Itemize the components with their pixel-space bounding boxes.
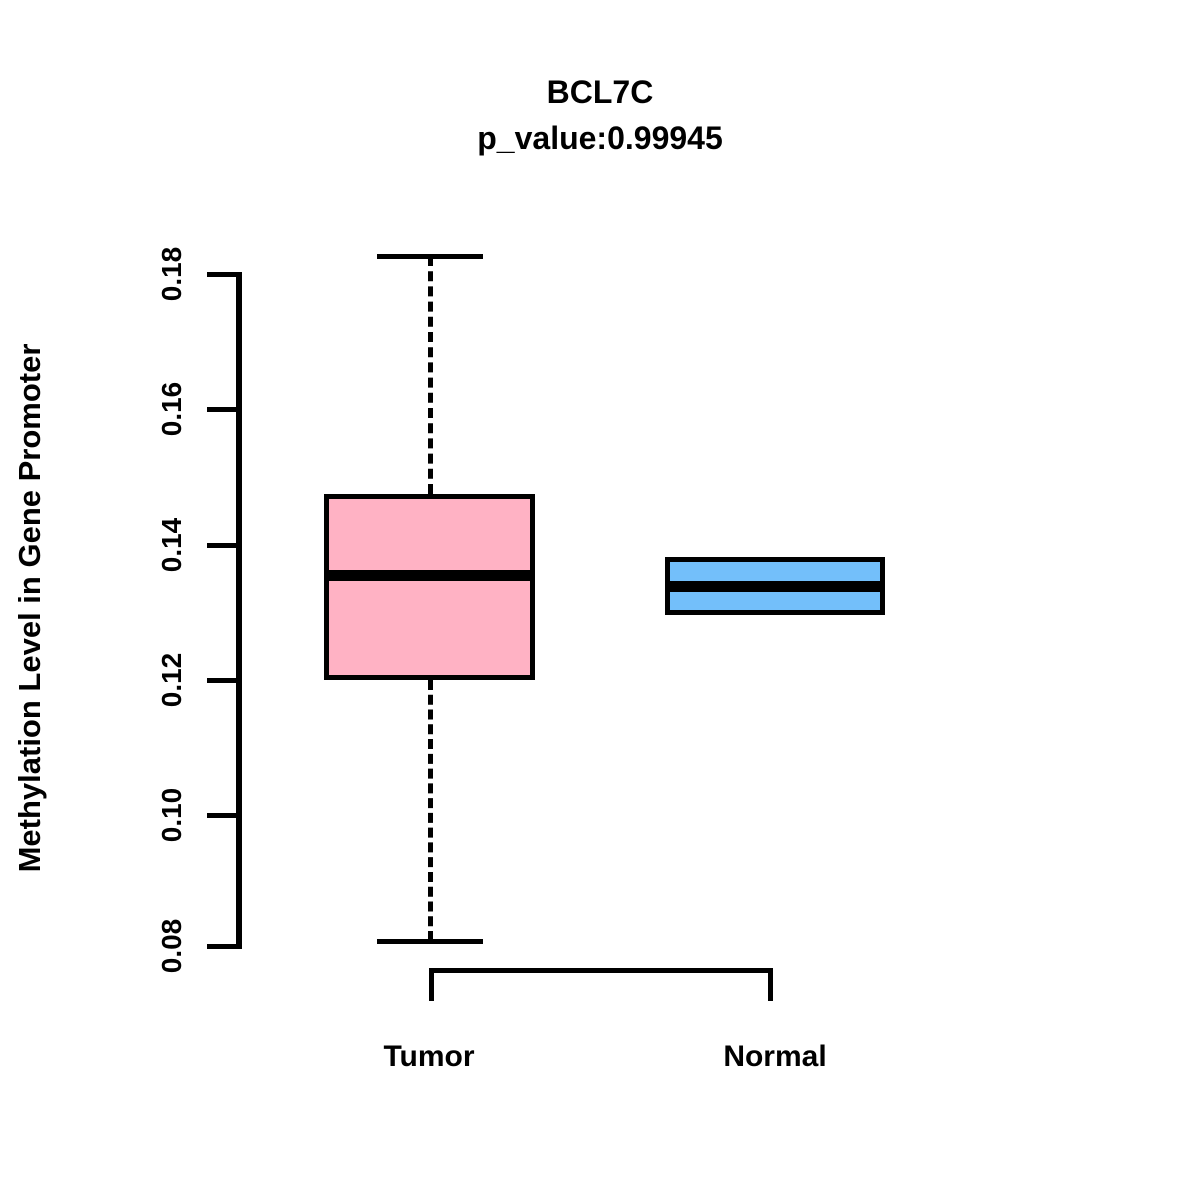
y-tick-label-008: 0.08 bbox=[156, 891, 188, 1001]
y-tick-label-014: 0.14 bbox=[156, 490, 188, 600]
y-tick-mark bbox=[207, 407, 237, 412]
y-tick-mark bbox=[207, 678, 237, 683]
tumor-median-line bbox=[324, 570, 535, 581]
tumor-lower-whisker bbox=[428, 680, 433, 942]
y-tick-mark bbox=[207, 543, 237, 548]
y-tick-label-010: 0.10 bbox=[156, 760, 188, 870]
tumor-lower-whisker-cap bbox=[377, 939, 483, 944]
x-axis-label-normal: Normal bbox=[655, 1040, 895, 1074]
x-tick-mark-tumor bbox=[429, 968, 434, 1001]
x-tick-mark-normal bbox=[768, 968, 773, 1001]
tumor-upper-whisker bbox=[428, 256, 433, 493]
y-tick-label-012: 0.12 bbox=[156, 625, 188, 735]
tumor-box bbox=[324, 494, 535, 680]
y-tick-mark bbox=[207, 813, 237, 818]
chart-subtitle-pvalue: p_value:0.99945 bbox=[0, 120, 1200, 157]
normal-median-line bbox=[665, 581, 885, 592]
y-tick-label-016: 0.16 bbox=[156, 354, 188, 464]
y-axis-line bbox=[236, 272, 242, 949]
boxplot-figure: BCL7C p_value:0.99945 Methylation Level … bbox=[0, 0, 1200, 1200]
y-tick-mark bbox=[207, 944, 237, 949]
y-axis-title: Methylation Level in Gene Promoter bbox=[12, 188, 48, 1028]
x-axis-label-tumor: Tumor bbox=[309, 1040, 549, 1074]
y-tick-label-018: 0.18 bbox=[156, 219, 188, 329]
tumor-upper-whisker-cap bbox=[377, 254, 483, 259]
x-axis-line bbox=[429, 968, 773, 973]
chart-title: BCL7C bbox=[0, 74, 1200, 111]
y-tick-mark bbox=[207, 272, 237, 277]
